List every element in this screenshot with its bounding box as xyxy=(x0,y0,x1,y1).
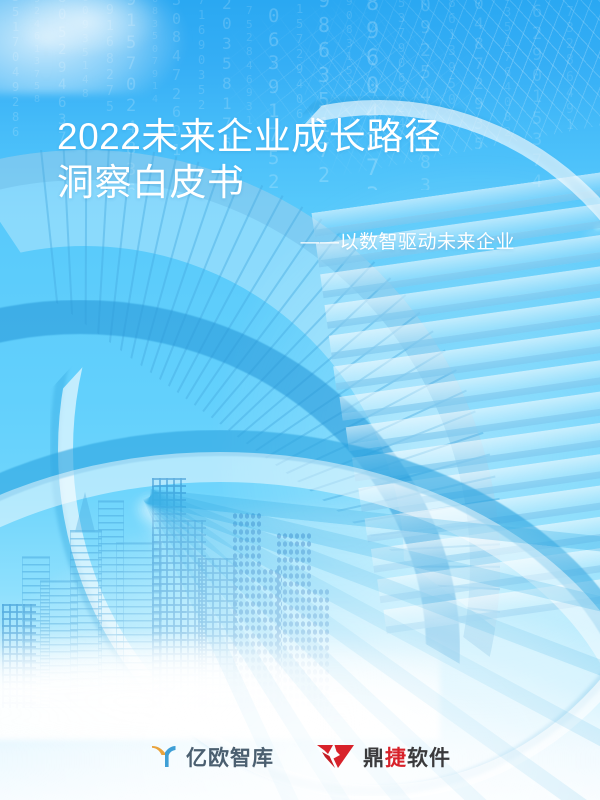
logo-bar: 亿欧智库 鼎捷软件 xyxy=(0,734,600,782)
logo-digiwin-text-accent: 捷 xyxy=(385,747,407,770)
title-block: 2022未来企业成长路径 洞察白皮书 ——以数智驱动未来企业 xyxy=(57,114,527,256)
logo-digiwin-text: 鼎捷软件 xyxy=(363,748,451,769)
page-title: 2022未来企业成长路径 洞察白皮书 xyxy=(57,114,527,206)
logo-eo-text: 亿欧智库 xyxy=(186,748,274,769)
logo-eo-intelligence[interactable]: 亿欧智库 xyxy=(149,741,274,776)
logo-digiwin-software[interactable]: 鼎捷软件 xyxy=(316,741,451,776)
digiwin-w-mark-icon xyxy=(316,741,356,776)
page-title-line-2: 洞察白皮书 xyxy=(57,162,245,203)
logo-digiwin-text-prefix: 鼎 xyxy=(363,747,385,770)
page-title-line-1: 2022未来企业成长路径 xyxy=(57,116,441,157)
whitepaper-cover: 3 5 1 7 0 4 9 2 8 60 9 2 4 6 1 3 7 5 81 … xyxy=(0,0,600,800)
logo-digiwin-text-suffix: 软件 xyxy=(407,747,451,770)
eo-y-mark-icon xyxy=(149,741,179,776)
page-subtitle: ——以数智驱动未来企业 xyxy=(57,230,527,256)
